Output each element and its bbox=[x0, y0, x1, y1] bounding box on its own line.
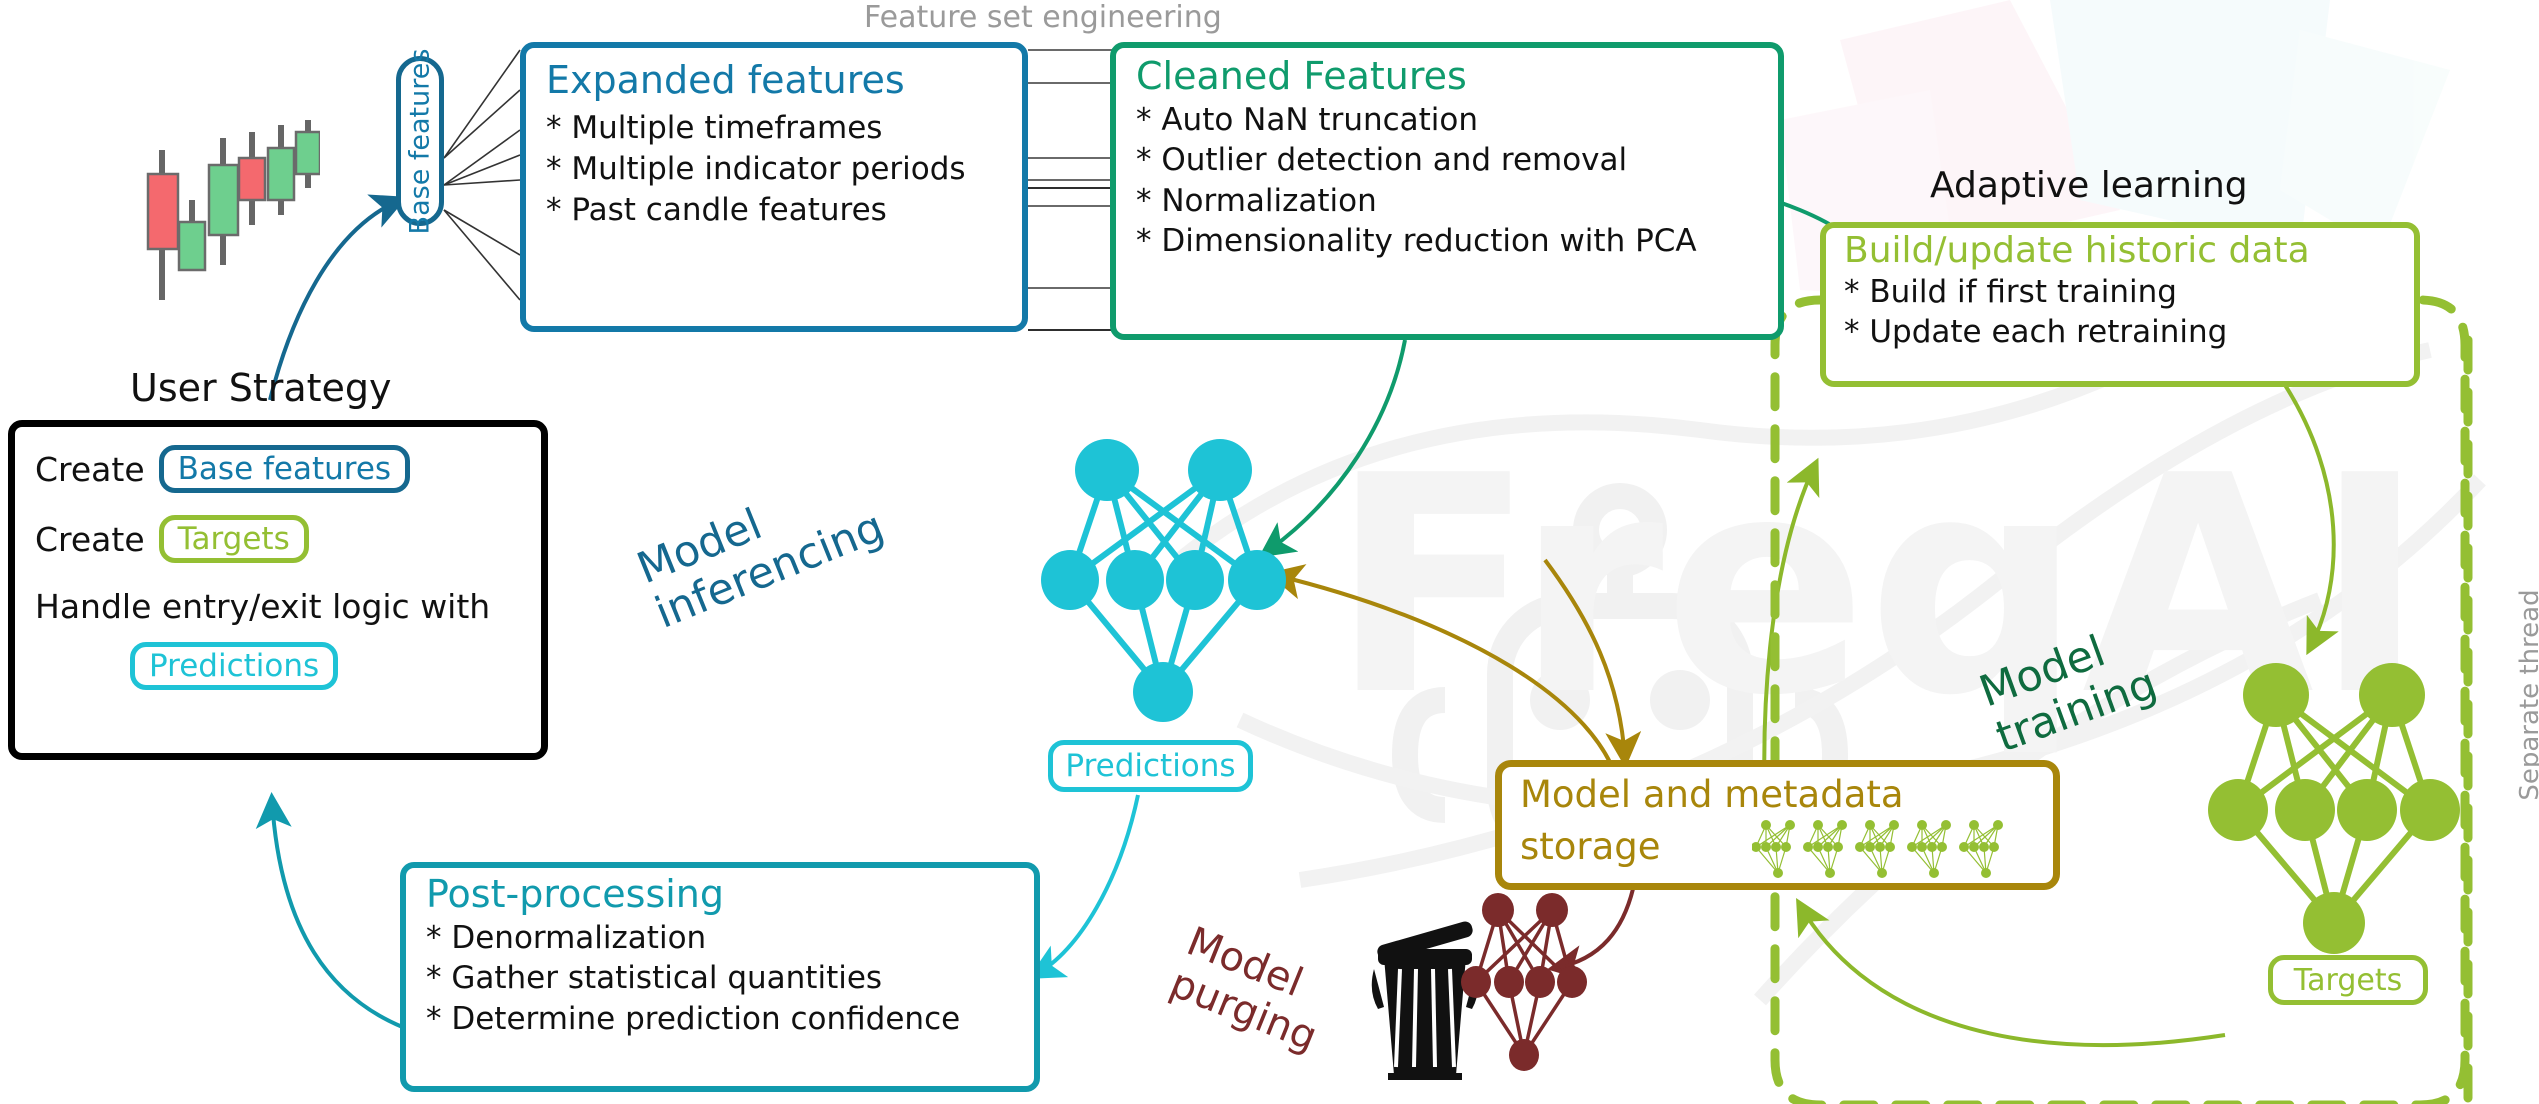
neural-network-row-icon bbox=[1752, 819, 2052, 881]
base-features-chip[interactable]: Base features bbox=[159, 445, 410, 493]
cleaned-features-title: Cleaned Features bbox=[1136, 54, 1762, 98]
expanded-features-title: Expanded features bbox=[546, 58, 1006, 102]
list-item: * Denormalization bbox=[426, 918, 1018, 958]
post-processing-bullets: * Denormalization * Gather statistical q… bbox=[426, 918, 1018, 1039]
user-strategy-line-3: Handle entry/exit logic with Predictions bbox=[35, 587, 490, 690]
arrow-build-to-training bbox=[2285, 385, 2334, 648]
cleaned-features-bullets: * Auto NaN truncation * Outlier detectio… bbox=[1136, 100, 1762, 261]
neural-network-icon-purged bbox=[1460, 890, 1590, 1080]
expanded-features-bullets: * Multiple timeframes * Multiple indicat… bbox=[546, 108, 1006, 231]
arrow-postprocessing-to-strategy bbox=[272, 800, 410, 1030]
predictions-chip[interactable]: Predictions bbox=[130, 642, 338, 690]
cleaned-features-box[interactable]: Cleaned Features * Auto NaN truncation *… bbox=[1110, 42, 1784, 340]
predictions-pill[interactable]: Predictions bbox=[1048, 740, 1253, 792]
separate-thread-label-wrap: Separate thread bbox=[2515, 585, 2539, 805]
arrow-into-storage bbox=[1545, 560, 1625, 760]
list-item: * Multiple timeframes bbox=[546, 108, 1006, 149]
create-label-2: Create bbox=[35, 520, 145, 559]
targets-pill-label: Targets bbox=[2294, 963, 2402, 998]
targets-chip[interactable]: Targets bbox=[159, 515, 309, 563]
user-strategy-line-1: Create Base features bbox=[35, 445, 410, 493]
create-label-1: Create bbox=[35, 450, 145, 489]
list-item: * Auto NaN truncation bbox=[1136, 100, 1762, 140]
list-item: * Multiple indicator periods bbox=[546, 149, 1006, 190]
list-item: * Build if first training bbox=[1844, 273, 2398, 313]
model-storage-line2: storage bbox=[1520, 825, 1661, 868]
list-item: * Past candle features bbox=[546, 190, 1006, 231]
user-strategy-title: User Strategy bbox=[130, 366, 392, 410]
user-strategy-line-2: Create Targets bbox=[35, 515, 309, 563]
predictions-pill-label: Predictions bbox=[1065, 748, 1235, 784]
adaptive-learning-label: Adaptive learning bbox=[1930, 165, 2248, 206]
neural-network-icon-inference bbox=[1035, 430, 1295, 730]
build-update-bullets: * Build if first training * Update each … bbox=[1844, 273, 2398, 352]
neural-network-icon-training bbox=[2200, 655, 2470, 955]
base-features-pill-label: Base features bbox=[405, 48, 436, 234]
post-processing-title: Post-processing bbox=[426, 872, 1018, 916]
feature-set-engineering-header: Feature set engineering bbox=[864, 0, 1222, 35]
model-storage-box[interactable]: Model and metadata storage bbox=[1495, 760, 2060, 890]
arrow-storage-to-inference bbox=[1275, 575, 1620, 790]
list-item: * Update each retraining bbox=[1844, 313, 2398, 353]
model-storage-line1: Model and metadata bbox=[1520, 773, 1904, 816]
build-update-box[interactable]: Build/update historic data * Build if fi… bbox=[1820, 222, 2420, 387]
feature-set-engineering-label: Feature set engineering bbox=[864, 0, 1222, 35]
entry-exit-label: Handle entry/exit logic with bbox=[35, 587, 490, 626]
expanded-features-box[interactable]: Expanded features * Multiple timeframes … bbox=[520, 42, 1028, 332]
candlestick-chart-icon bbox=[140, 120, 320, 320]
user-strategy-box[interactable]: Create Base features Create Targets Hand… bbox=[8, 420, 548, 760]
arrow-predictions-to-postprocessing bbox=[1035, 795, 1138, 975]
list-item: * Determine prediction confidence bbox=[426, 999, 1018, 1039]
page-title: User Strategy bbox=[130, 366, 392, 410]
diagram-canvas: FreqAI bbox=[0, 0, 2539, 1104]
separate-thread-label: Separate thread bbox=[2515, 589, 2539, 800]
post-processing-box[interactable]: Post-processing * Denormalization * Gath… bbox=[400, 862, 1040, 1092]
list-item: * Dimensionality reduction with PCA bbox=[1136, 221, 1762, 261]
base-features-pill[interactable]: Base features bbox=[396, 56, 444, 226]
list-item: * Normalization bbox=[1136, 181, 1762, 221]
list-item: * Outlier detection and removal bbox=[1136, 140, 1762, 180]
arrow-training-to-storage bbox=[1800, 905, 2225, 1045]
adaptive-learning-header: Adaptive learning bbox=[1930, 165, 2248, 206]
targets-pill[interactable]: Targets bbox=[2268, 955, 2428, 1005]
list-item: * Gather statistical quantities bbox=[426, 958, 1018, 998]
build-update-title: Build/update historic data bbox=[1844, 230, 2398, 271]
